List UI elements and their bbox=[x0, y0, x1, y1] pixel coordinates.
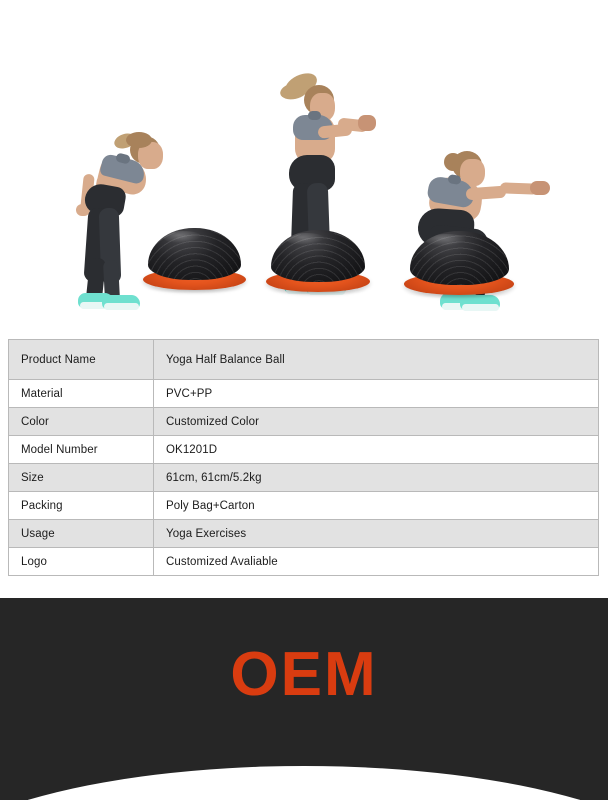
spec-key: Color bbox=[9, 408, 154, 436]
table-row: Product Name Yoga Half Balance Ball bbox=[9, 340, 599, 380]
oem-title: OEM bbox=[0, 644, 608, 706]
spec-value: Poly Bag+Carton bbox=[154, 492, 599, 520]
table-row: Color Customized Color bbox=[9, 408, 599, 436]
table-row: Model Number OK1201D bbox=[9, 436, 599, 464]
table-row: Logo Customized Avaliable bbox=[9, 548, 599, 576]
spec-value: Yoga Half Balance Ball bbox=[154, 340, 599, 380]
spec-key: Product Name bbox=[9, 340, 154, 380]
hero-product-image bbox=[0, 0, 608, 330]
spec-key: Packing bbox=[9, 492, 154, 520]
spec-key: Usage bbox=[9, 520, 154, 548]
spec-key: Model Number bbox=[9, 436, 154, 464]
spec-key: Size bbox=[9, 464, 154, 492]
table-row: Material PVC+PP bbox=[9, 380, 599, 408]
spec-value: Customized Avaliable bbox=[154, 548, 599, 576]
oem-banner: OEM bbox=[0, 598, 608, 800]
spec-value: Yoga Exercises bbox=[154, 520, 599, 548]
spec-key: Material bbox=[9, 380, 154, 408]
balance-ball-1 bbox=[143, 228, 246, 290]
spec-value: PVC+PP bbox=[154, 380, 599, 408]
balance-ball-3 bbox=[404, 231, 514, 295]
table-row: Usage Yoga Exercises bbox=[9, 520, 599, 548]
balance-ball-2 bbox=[266, 230, 370, 292]
spec-value: 61cm, 61cm/5.2kg bbox=[154, 464, 599, 492]
table-row: Packing Poly Bag+Carton bbox=[9, 492, 599, 520]
product-spec-table: Product Name Yoga Half Balance Ball Mate… bbox=[8, 339, 599, 576]
spec-value: OK1201D bbox=[154, 436, 599, 464]
banner-bottom-curve bbox=[0, 766, 608, 800]
spec-key: Logo bbox=[9, 548, 154, 576]
table-row: Size 61cm, 61cm/5.2kg bbox=[9, 464, 599, 492]
spec-value: Customized Color bbox=[154, 408, 599, 436]
